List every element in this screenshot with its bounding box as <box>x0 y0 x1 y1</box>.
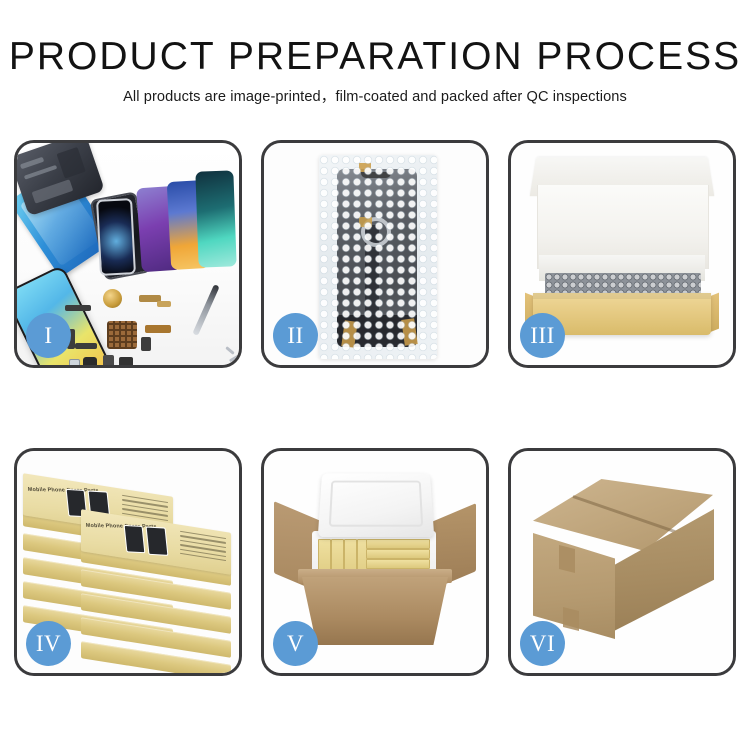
carton-tape-lower <box>563 607 579 631</box>
small-component-part <box>119 357 133 365</box>
box-label-phone-image-d <box>146 526 169 555</box>
yellow-box-h3 <box>366 559 430 569</box>
page-subtitle: All products are image-printed，film-coat… <box>0 86 750 108</box>
process-step-6: VI <box>508 448 736 676</box>
yellow-box-h2 <box>366 549 430 559</box>
camera-module-part <box>103 355 114 365</box>
process-step-4: Mobile Phone Spare Parts Mobile Phone Sp… <box>14 448 242 676</box>
glass-panel-front <box>96 198 136 276</box>
infographic-page: PRODUCT PREPARATION PROCESS All products… <box>0 0 750 750</box>
sim-tray-part <box>69 359 80 365</box>
process-step-1: I <box>14 140 242 368</box>
page-title: PRODUCT PREPARATION PROCESS <box>0 34 750 80</box>
flex-cable-f <box>145 325 171 333</box>
step-badge-4: IV <box>26 621 71 666</box>
yellow-box-h1 <box>366 539 430 549</box>
step-badge-3: III <box>520 313 565 358</box>
flex-cable-g <box>141 337 151 351</box>
speaker-part <box>83 357 97 365</box>
process-grid: I II <box>14 140 736 680</box>
flex-cable-c <box>157 301 171 307</box>
box-label-phone-image-c <box>124 525 146 553</box>
box-label-spec-lines-front <box>180 531 226 568</box>
process-step-2: II <box>261 140 489 368</box>
teal-gradient-phone <box>195 170 236 267</box>
bubble-texture <box>319 155 437 359</box>
bubble-wrap-bag <box>319 155 437 359</box>
carton-body <box>302 577 448 645</box>
flex-cable-e <box>75 343 97 349</box>
step-badge-2: II <box>273 313 318 358</box>
flex-cable-a <box>65 305 91 311</box>
gold-coil-part <box>103 289 122 308</box>
header: PRODUCT PREPARATION PROCESS All products… <box>0 34 750 108</box>
process-step-3: III <box>508 140 736 368</box>
chip-grid-part <box>107 321 137 349</box>
process-step-5: V <box>261 448 489 676</box>
foam-box-lid <box>318 473 434 537</box>
step-badge-6: VI <box>520 621 565 666</box>
step-badge-1: I <box>26 313 71 358</box>
step-badge-5: V <box>273 621 318 666</box>
carton-tape-upper <box>559 545 575 573</box>
